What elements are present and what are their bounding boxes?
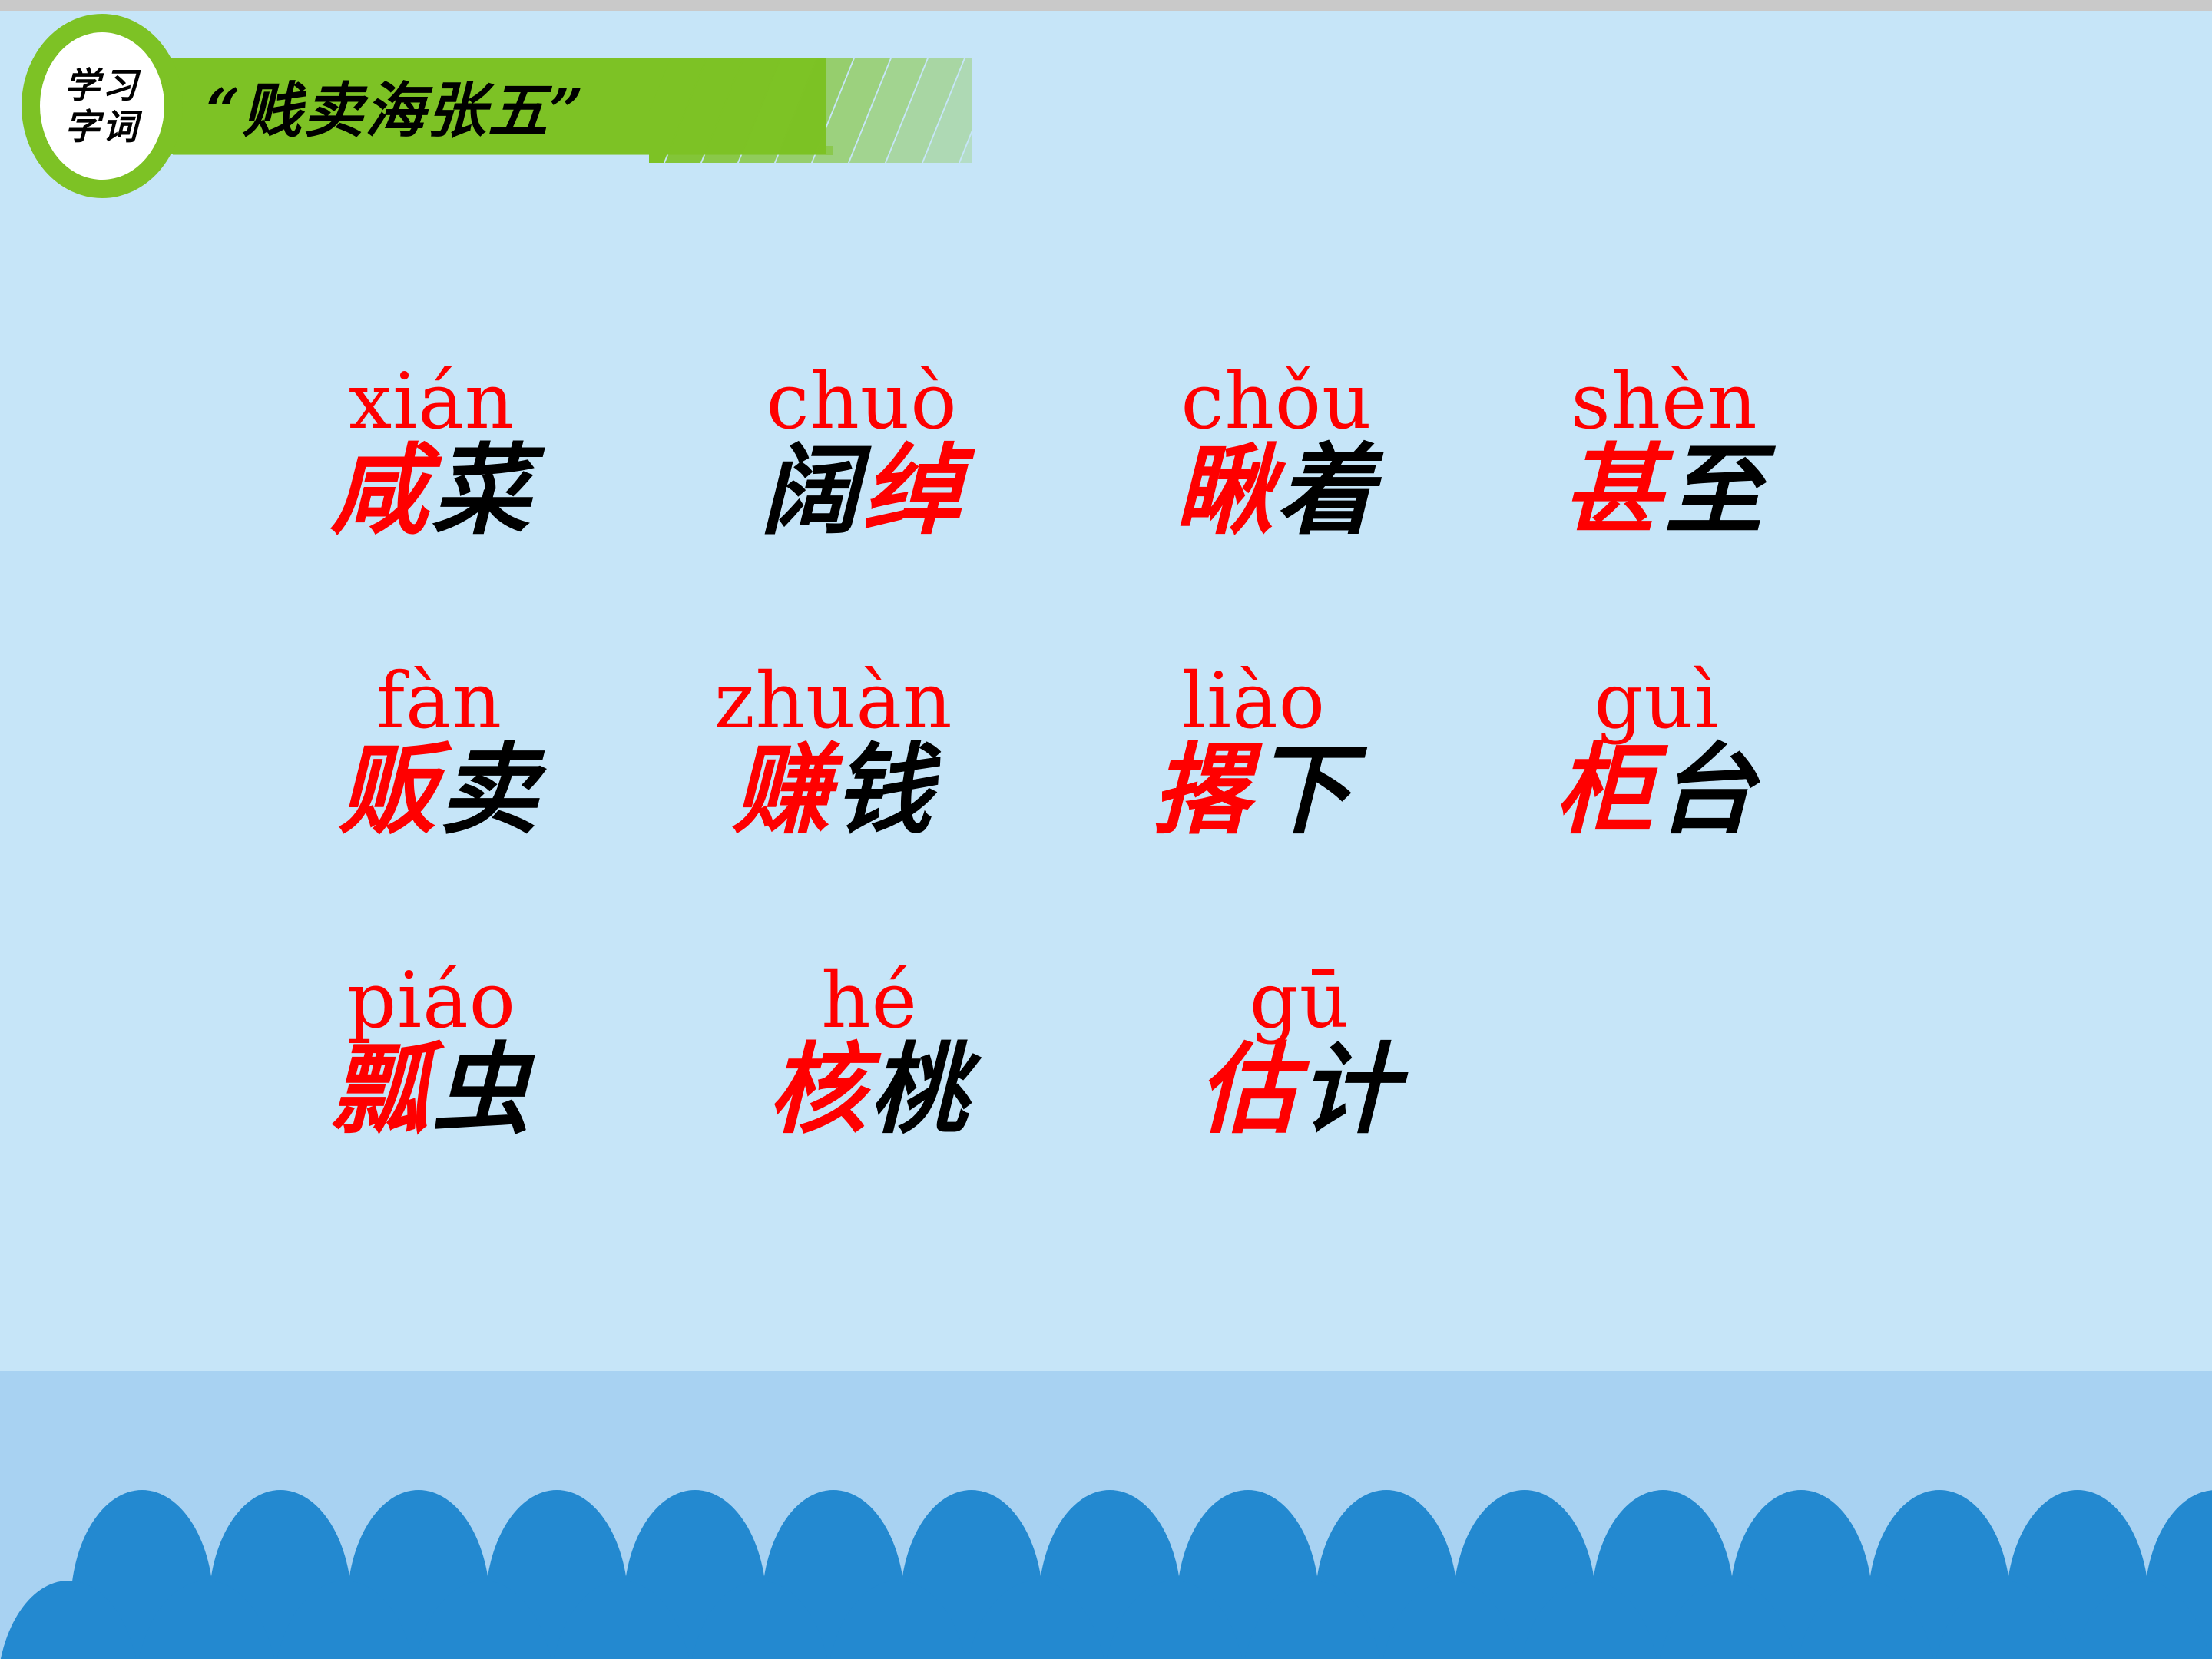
arch-shape <box>2071 1581 2212 1659</box>
vocabulary-entry[interactable]: liào撂下 <box>1152 661 1355 845</box>
arch-shape <box>688 1581 831 1659</box>
hanzi-char-plain: 桃 <box>869 1032 971 1147</box>
vocabulary-row: xián咸菜chuò阔绰chǒu瞅着shèn甚至 <box>0 361 2212 661</box>
vocabulary-entry[interactable]: guì柜台 <box>1555 661 1758 845</box>
slide-canvas: “贱卖海张五” 学习 字词 xián咸菜chuò阔绰chǒu瞅着shèn甚至fà… <box>0 0 2212 1659</box>
pinyin-label: gū <box>1198 960 1401 1041</box>
vocabulary-row: piáo瓢虫hé核桃gū估计 <box>0 960 2212 1260</box>
hanzi-char-highlight: 咸 <box>330 433 432 548</box>
hanzi-char-highlight: 估 <box>1198 1032 1300 1147</box>
pinyin-label: fàn <box>338 661 541 741</box>
hanzi-word: 撂下 <box>1152 737 1355 845</box>
hanzi-char-plain: 至 <box>1664 433 1766 548</box>
vocabulary-grid: xián咸菜chuò阔绰chǒu瞅着shèn甚至fàn贩卖zhuàn赚钱liào… <box>0 361 2212 1260</box>
hanzi-char-highlight: 甚 <box>1563 433 1664 548</box>
vocabulary-entry[interactable]: fàn贩卖 <box>338 661 541 845</box>
hanzi-word: 贩卖 <box>338 737 541 845</box>
hanzi-char-plain: 阔 <box>760 433 862 548</box>
pinyin-label: chǒu <box>1175 361 1378 442</box>
top-grey-strip <box>0 0 2212 11</box>
arch-shape <box>1794 1581 1937 1659</box>
pinyin-label: piáo <box>330 960 533 1041</box>
hanzi-char-plain: 下 <box>1253 733 1355 848</box>
hanzi-word: 赚钱 <box>714 737 953 845</box>
vocabulary-entry[interactable]: chǒu瞅着 <box>1175 361 1378 545</box>
arch-shape <box>1518 1581 1661 1659</box>
vocabulary-row: fàn贩卖zhuàn赚钱liào撂下guì柜台 <box>0 661 2212 960</box>
vocabulary-entry[interactable]: chuò阔绰 <box>760 361 963 545</box>
arch-shape <box>273 1581 416 1659</box>
arch-shape <box>1241 1581 1384 1659</box>
bottom-arch-decoration <box>0 1490 2212 1659</box>
hanzi-word: 核桃 <box>768 1036 971 1144</box>
pinyin-label: zhuàn <box>714 661 953 741</box>
arch-row-front <box>0 1490 2212 1659</box>
arch-shape <box>1932 1581 2075 1659</box>
hanzi-word: 估计 <box>1198 1036 1401 1144</box>
badge-label-line2: 字词 <box>65 106 140 147</box>
arch-shape <box>0 1581 140 1659</box>
hanzi-char-highlight: 瓢 <box>330 1032 432 1147</box>
hanzi-char-highlight: 核 <box>768 1032 869 1147</box>
arch-shape <box>826 1581 969 1659</box>
badge-oval: 学习 字词 <box>40 32 164 180</box>
vocabulary-entry[interactable]: hé核桃 <box>768 960 971 1144</box>
hanzi-char-highlight: 绰 <box>862 433 963 548</box>
pinyin-label: chuò <box>760 361 963 442</box>
hanzi-word: 柜台 <box>1555 737 1758 845</box>
hanzi-word: 咸菜 <box>330 437 533 545</box>
pinyin-label: shèn <box>1563 361 1766 442</box>
hanzi-char-highlight: 柜 <box>1555 733 1657 848</box>
arch-shape <box>1656 1581 1799 1659</box>
arch-shape <box>1379 1581 1522 1659</box>
arch-shape <box>550 1581 693 1659</box>
hanzi-char-plain: 虫 <box>432 1032 533 1147</box>
hanzi-word: 阔绰 <box>760 437 963 545</box>
hanzi-char-plain: 计 <box>1300 1032 1401 1147</box>
hanzi-char-highlight: 贩 <box>338 733 439 848</box>
hanzi-char-highlight: 撂 <box>1152 733 1253 848</box>
banner-title: “贱卖海张五” <box>206 60 585 152</box>
hanzi-word: 瞅着 <box>1175 437 1378 545</box>
arch-shape <box>135 1581 278 1659</box>
hanzi-char-plain: 钱 <box>833 733 935 848</box>
vocabulary-entry[interactable]: zhuàn赚钱 <box>714 661 953 845</box>
badge-label-line1: 学习 <box>65 65 140 106</box>
vocabulary-entry[interactable]: xián咸菜 <box>330 361 533 545</box>
hanzi-char-plain: 台 <box>1657 733 1758 848</box>
vocabulary-entry[interactable]: gū估计 <box>1198 960 1401 1144</box>
hanzi-char-plain: 卖 <box>439 733 541 848</box>
arch-shape <box>1103 1581 1246 1659</box>
pinyin-label: guì <box>1555 661 1758 741</box>
hanzi-char-highlight: 赚 <box>732 733 833 848</box>
pinyin-label: xián <box>330 361 533 442</box>
pinyin-label: liào <box>1152 661 1355 741</box>
hanzi-char-plain: 菜 <box>432 433 533 548</box>
pinyin-label: hé <box>768 960 971 1041</box>
vocabulary-entry[interactable]: piáo瓢虫 <box>330 960 533 1144</box>
arch-shape <box>965 1581 1108 1659</box>
hanzi-char-plain: 着 <box>1277 433 1378 548</box>
hanzi-word: 甚至 <box>1563 437 1766 545</box>
hanzi-char-highlight: 瞅 <box>1175 433 1277 548</box>
vocabulary-entry[interactable]: shèn甚至 <box>1563 361 1766 545</box>
arch-shape <box>2209 1581 2212 1659</box>
banner-stripe-decoration <box>649 58 972 163</box>
arch-shape <box>412 1581 555 1659</box>
hanzi-word: 瓢虫 <box>330 1036 533 1144</box>
